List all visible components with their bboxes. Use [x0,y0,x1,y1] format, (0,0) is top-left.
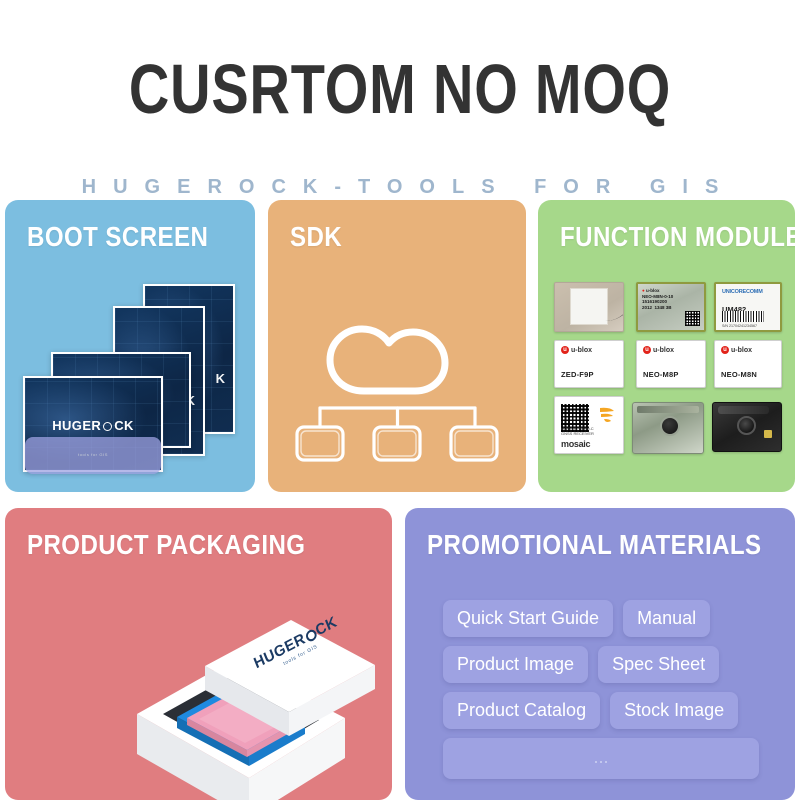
module-part-number: NEO-M8N [721,370,757,379]
infographic-page: CUSRTOM NO MOQ HUGEROCK-TOOLS FOR GIS BO… [0,0,800,800]
module-part-number: NEO-M8P [643,370,679,379]
card-title-function-modules: FUNCTION MODULES [560,222,795,252]
module-unicore-um482[interactable]: UNICORECOMM UM482 S/N 21704241234567 [714,282,782,332]
scanner-lens-icon [737,416,756,435]
ublox-dot-icon: u [643,346,651,354]
scanner-led-icon [764,430,772,438]
card-title-promotional-materials: PROMOTIONAL MATERIALS [427,530,762,560]
scanner-top-bar [718,406,768,414]
camera-top-bar [637,406,699,413]
tag-quick-start-guide[interactable]: Quick Start Guide [443,600,613,637]
ublox-dot-icon: u [561,346,569,354]
node-connector-lines [320,408,475,427]
antenna-wire-icon [601,282,624,321]
module-mosaic[interactable]: MOSAIC-T0090-CGNSS RECEIVER mosaic [554,396,624,454]
module-ublox-neo-m8n[interactable]: u u-blox NEO-M8N [714,340,782,388]
boot-screen-stack: K K HUGER CK tools for GIS [13,278,255,478]
card-title-product-packaging: PRODUCT PACKAGING [27,530,305,560]
boot-panel-badge: K [216,371,225,386]
logo-text-left: HUGER [52,418,101,433]
tag-more[interactable]: ... [443,738,759,779]
module-ublox-neo-m8n-pcb[interactable]: ● u-bloxNEO-M8N-0-1015161902002012 1348 … [636,282,706,332]
sdk-cloud-diagram [268,296,526,476]
pcb-label-text: ● u-bloxNEO-M8N-0-1015161902002012 1348 … [642,288,700,310]
tag-stock-image[interactable]: Stock Image [610,692,738,729]
qr-code-icon [685,311,700,326]
ublox-brand: u u-blox [721,346,775,354]
function-module-grid: u u-blox ZED-F9P MOSAIC-T0090-CGNS [552,282,782,478]
boot-panel-4: HUGER CK tools for GIS [23,376,163,472]
module-code-text: MOSAIC-T0090-CGNSS RECEIVER [561,426,594,436]
logo-ring-icon [103,422,112,431]
tag-product-catalog[interactable]: Product Catalog [443,692,600,729]
ublox-dot-icon: u [721,346,729,354]
module-ublox-neo-m8p[interactable]: u u-blox NEO-M8P [636,340,706,388]
ublox-brand: u u-blox [643,346,699,354]
unicore-brand: UNICORECOMM [722,289,763,295]
logo-tagline: tools for GIS [25,437,161,474]
page-subtitle: HUGEROCK-TOOLS FOR GIS [0,176,800,199]
barcode-icon [722,311,764,322]
camera-lens-icon [660,416,680,436]
node-box-inner [301,431,493,456]
module-part-number: ZED-F9P [561,370,594,379]
barcode-text: S/N 21704241234567 [722,324,757,328]
tag-spec-sheet[interactable]: Spec Sheet [598,646,719,683]
septentrio-fan-icon [598,406,616,431]
cloud-icon [330,329,445,391]
module-antenna-patch[interactable] [554,282,624,332]
card-grid: BOOT SCREEN K K HUGER CK to [0,200,800,800]
packaging-illustration: HUGER CK tools for GIS [65,578,385,800]
hugerock-logo: HUGER CK tools for GIS [25,417,161,474]
promotional-tag-list: Quick Start Guide Manual Product Image S… [443,600,759,779]
tag-manual[interactable]: Manual [623,600,710,637]
card-function-modules[interactable]: FUNCTION MODULES u u-blox ZED-F9P [538,200,795,492]
card-title-boot-screen: BOOT SCREEN [27,222,208,252]
module-ublox-zed-f9p[interactable]: u u-blox ZED-F9P [554,340,624,388]
mosaic-brand: mosaic [561,439,590,449]
node-boxes [297,427,497,460]
logo-text-right: CK [114,418,134,433]
page-title: CUSRTOM NO MOQ [80,52,720,126]
card-sdk[interactable]: SDK [268,200,526,492]
module-camera-scan-clear[interactable] [632,402,704,454]
module-barcode-scan-black[interactable] [712,402,782,452]
ublox-brand: u u-blox [561,346,617,354]
card-promotional-materials[interactable]: PROMOTIONAL MATERIALS Quick Start Guide … [405,508,795,800]
card-title-sdk: SDK [290,222,342,252]
tag-product-image[interactable]: Product Image [443,646,588,683]
card-boot-screen[interactable]: BOOT SCREEN K K HUGER CK to [5,200,255,492]
card-product-packaging[interactable]: PRODUCT PACKAGING [5,508,392,800]
